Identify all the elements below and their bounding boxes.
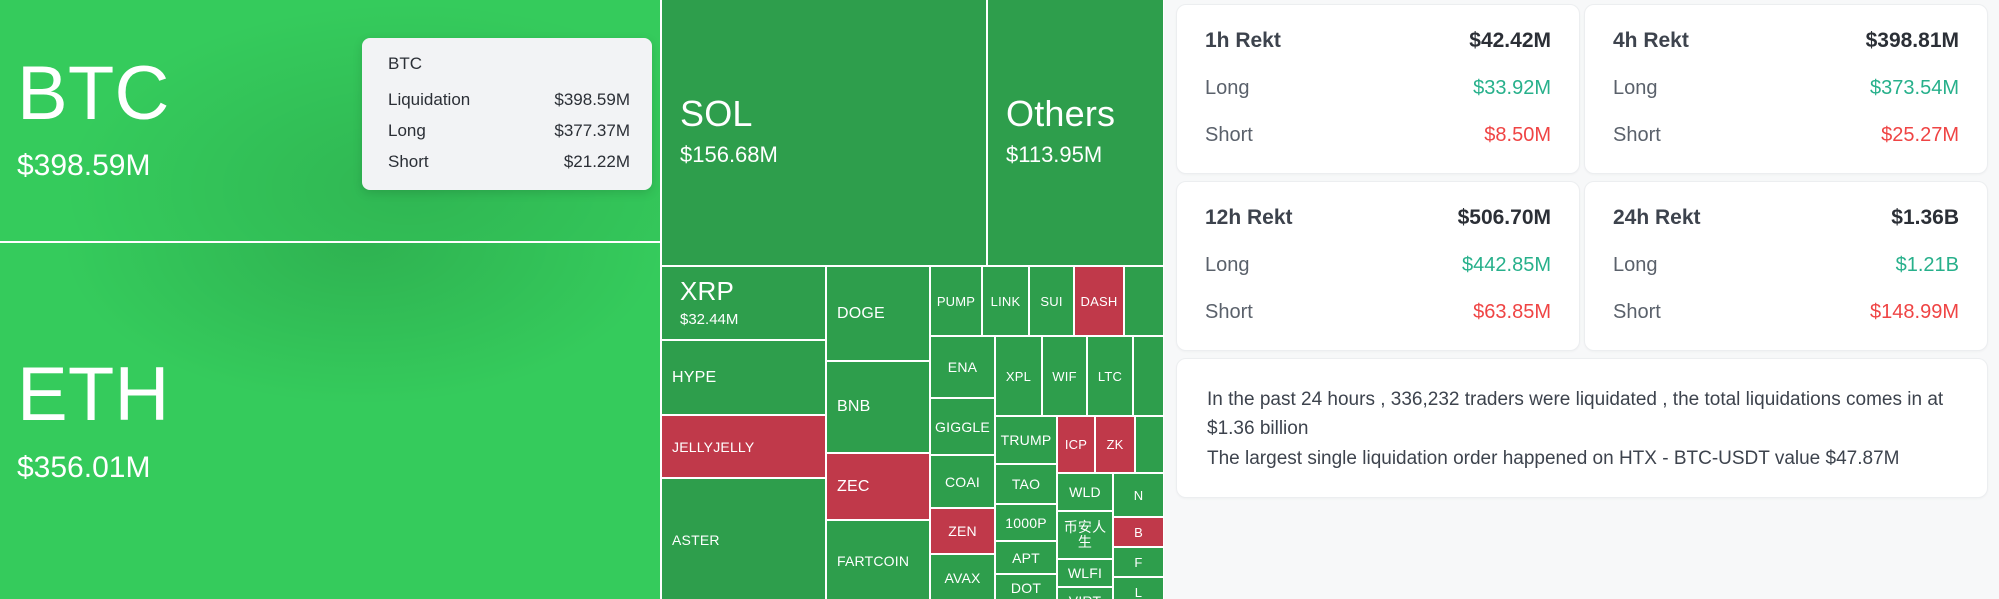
rekt-total: $1.36B: [1891, 206, 1959, 230]
tooltip-label: Short: [388, 153, 429, 170]
treemap-tile-jellyjelly[interactable]: JELLYJELLY: [661, 415, 826, 478]
rekt-long-label: Long: [1613, 254, 1658, 277]
rekt-card-12h[interactable]: 12h Rekt $506.70M Long $442.85M Short $6…: [1176, 181, 1580, 351]
stats-panel: 1h Rekt $42.42M Long $33.92M Short $8.50…: [1164, 0, 1999, 599]
treemap-tile-xpl[interactable]: XPL: [995, 336, 1042, 416]
rekt-long-label: Long: [1205, 77, 1250, 100]
tile-label: XRP: [680, 278, 825, 304]
treemap-tile-dash[interactable]: DASH: [1074, 266, 1124, 336]
tile-label: AVAX: [944, 570, 980, 586]
rekt-total-row: 12h Rekt $506.70M: [1205, 206, 1551, 230]
treemap-tile-n2[interactable]: [1124, 266, 1164, 336]
tile-label: VIRT: [1069, 593, 1101, 599]
treemap-tile-n[interactable]: N: [1113, 473, 1164, 517]
tile-label: WLFI: [1068, 565, 1102, 581]
rekt-long-value: $442.85M: [1462, 254, 1551, 277]
rekt-title: 24h Rekt: [1613, 206, 1701, 230]
tooltip-value: $398.59M: [554, 91, 630, 108]
tile-value: $32.44M: [680, 311, 825, 328]
treemap-tile-unnamed-1[interactable]: [1133, 336, 1164, 416]
treemap-tile-link[interactable]: LINK: [982, 266, 1029, 336]
rekt-short-label: Short: [1613, 124, 1661, 147]
tile-label: DOT: [1011, 580, 1041, 596]
rekt-long-label: Long: [1613, 77, 1658, 100]
tooltip-value: $377.37M: [554, 122, 630, 139]
rekt-title: 12h Rekt: [1205, 206, 1293, 230]
tooltip-value: $21.22M: [564, 153, 630, 170]
treemap-tile-pump[interactable]: PUMP: [930, 266, 982, 336]
summary-line-2: The largest single liquidation order hap…: [1207, 444, 1957, 473]
treemap-tile-coai[interactable]: COAI: [930, 455, 995, 508]
liquidation-dashboard: BTC $398.59M ETH $356.01M SOL $156.68M O…: [0, 0, 1999, 599]
rekt-short-label: Short: [1205, 124, 1253, 147]
rekt-long-row: Long $373.54M: [1613, 77, 1959, 100]
tile-label: HYPE: [672, 369, 825, 387]
treemap-tile-zen[interactable]: ZEN: [930, 508, 995, 554]
treemap-tile-ena[interactable]: ENA: [930, 336, 995, 398]
tile-label: GIGGLE: [935, 419, 990, 435]
tile-label: ENA: [948, 359, 977, 375]
tile-label: BNB: [837, 398, 929, 416]
tile-label: LINK: [991, 294, 1021, 309]
treemap-tile-virt[interactable]: VIRT: [1057, 587, 1113, 599]
tile-label: DASH: [1081, 294, 1118, 309]
treemap-tile-aster[interactable]: ASTER: [661, 478, 826, 599]
tile-value: $156.68M: [680, 142, 986, 168]
treemap-tile-bnb[interactable]: BNB: [826, 361, 930, 453]
rekt-long-label: Long: [1205, 254, 1250, 277]
treemap-tile-f[interactable]: F: [1113, 547, 1164, 577]
tooltip-label: Liquidation: [388, 91, 470, 108]
rekt-long-value: $373.54M: [1870, 77, 1959, 100]
tooltip-symbol: BTC: [388, 54, 630, 74]
rekt-total: $42.42M: [1469, 29, 1551, 53]
tile-label: ASTER: [672, 532, 825, 548]
rekt-title: 4h Rekt: [1613, 29, 1689, 53]
liquidation-treemap[interactable]: BTC $398.59M ETH $356.01M SOL $156.68M O…: [0, 0, 1164, 599]
tile-label: ZEN: [948, 523, 977, 539]
treemap-tile-b[interactable]: B: [1113, 517, 1164, 547]
rekt-long-value: $1.21B: [1896, 254, 1959, 277]
treemap-tile-sui[interactable]: SUI: [1029, 266, 1074, 336]
tile-label: L: [1135, 585, 1142, 599]
tile-label: SUI: [1040, 294, 1062, 309]
summary-line-1: In the past 24 hours , 336,232 traders w…: [1207, 385, 1957, 444]
rekt-short-label: Short: [1613, 301, 1661, 324]
rekt-short-value: $148.99M: [1870, 301, 1959, 324]
tooltip-row-short: Short $21.22M: [388, 153, 630, 170]
rekt-short-value: $63.85M: [1473, 301, 1551, 324]
tile-label: FARTCOIN: [837, 553, 929, 569]
tile-label: ZK: [1106, 437, 1123, 452]
tile-value: $113.95M: [1006, 142, 1163, 168]
treemap-tile-wlfi[interactable]: WLFI: [1057, 559, 1113, 587]
treemap-tile-xrp[interactable]: XRP $32.44M: [661, 266, 826, 340]
tile-label: DOGE: [837, 305, 929, 323]
rekt-short-row: Short $63.85M: [1205, 301, 1551, 324]
tile-label: TRUMP: [1001, 432, 1052, 448]
rekt-title: 1h Rekt: [1205, 29, 1281, 53]
btc-tooltip: BTC Liquidation $398.59M Long $377.37M S…: [362, 38, 652, 190]
tile-label: 币安人生: [1058, 520, 1112, 549]
treemap-tile-avax[interactable]: AVAX: [930, 554, 995, 599]
tile-label: ZEC: [837, 478, 929, 496]
tooltip-row-liquidation: Liquidation $398.59M: [388, 91, 630, 108]
tile-label: 1000P: [1005, 515, 1046, 531]
tooltip-label: Long: [388, 122, 426, 139]
tile-label: SOL: [680, 96, 986, 132]
treemap-tile-eth[interactable]: ETH $356.01M: [0, 242, 661, 599]
rekt-short-value: $8.50M: [1484, 124, 1551, 147]
tile-label: WLD: [1069, 484, 1101, 500]
treemap-tile-others[interactable]: Others $113.95M: [987, 0, 1164, 266]
treemap-tile-zk[interactable]: ZK: [1095, 416, 1135, 473]
rekt-total: $398.81M: [1866, 29, 1959, 53]
rekt-card-24h[interactable]: 24h Rekt $1.36B Long $1.21B Short $148.9…: [1584, 181, 1988, 351]
treemap-tile-tao[interactable]: TAO: [995, 464, 1057, 504]
tile-label: N: [1134, 488, 1144, 503]
tile-label: JELLYJELLY: [672, 439, 825, 455]
rekt-long-value: $33.92M: [1473, 77, 1551, 100]
rekt-short-value: $25.27M: [1881, 124, 1959, 147]
treemap-tile-apt[interactable]: APT: [995, 541, 1057, 574]
treemap-tile-wif[interactable]: WIF: [1042, 336, 1087, 416]
rekt-long-row: Long $1.21B: [1613, 254, 1959, 277]
tooltip-row-long: Long $377.37M: [388, 122, 630, 139]
treemap-tile-icp[interactable]: ICP: [1057, 416, 1095, 473]
tile-label: B: [1134, 525, 1143, 540]
treemap-tile-1000p[interactable]: 1000P: [995, 504, 1057, 541]
rekt-card-4h[interactable]: 4h Rekt $398.81M Long $373.54M Short $25…: [1584, 4, 1988, 174]
treemap-tile-sol[interactable]: SOL $156.68M: [661, 0, 987, 266]
tile-label: PUMP: [937, 294, 975, 309]
tile-label: WIF: [1052, 369, 1076, 384]
treemap-tile-giggle[interactable]: GIGGLE: [930, 398, 995, 455]
rekt-short-label: Short: [1205, 301, 1253, 324]
treemap-tile-l[interactable]: L: [1113, 577, 1164, 599]
tile-label: APT: [1012, 550, 1040, 566]
tile-label: LTC: [1098, 369, 1122, 384]
rekt-card-1h[interactable]: 1h Rekt $42.42M Long $33.92M Short $8.50…: [1176, 4, 1580, 174]
tile-label: ICP: [1065, 437, 1087, 452]
tile-label: COAI: [945, 474, 980, 490]
rekt-short-row: Short $25.27M: [1613, 124, 1959, 147]
tile-label: Others: [1006, 96, 1163, 132]
rekt-total-row: 24h Rekt $1.36B: [1613, 206, 1959, 230]
tile-value: $356.01M: [17, 451, 660, 485]
treemap-tile-wld[interactable]: WLD: [1057, 473, 1113, 511]
treemap-tile-doge[interactable]: DOGE: [826, 266, 930, 361]
rekt-short-row: Short $148.99M: [1613, 301, 1959, 324]
summary-card: In the past 24 hours , 336,232 traders w…: [1176, 358, 1988, 498]
treemap-tile-fartcoin[interactable]: FARTCOIN: [826, 520, 930, 599]
treemap-tile-dot[interactable]: DOT: [995, 574, 1057, 599]
rekt-total: $506.70M: [1458, 206, 1551, 230]
tile-label: XPL: [1006, 369, 1031, 384]
treemap-tile-zec[interactable]: ZEC: [826, 453, 930, 520]
tile-label: F: [1134, 555, 1142, 570]
rekt-total-row: 1h Rekt $42.42M: [1205, 29, 1551, 53]
rekt-total-row: 4h Rekt $398.81M: [1613, 29, 1959, 53]
tile-label: ETH: [17, 358, 660, 432]
treemap-tile-ltc[interactable]: LTC: [1087, 336, 1133, 416]
treemap-tile-trump[interactable]: TRUMP: [995, 416, 1057, 464]
treemap-tile-binance-life[interactable]: 币安人生: [1057, 511, 1113, 559]
tile-label: TAO: [1012, 476, 1040, 492]
rekt-short-row: Short $8.50M: [1205, 124, 1551, 147]
treemap-tile-hype[interactable]: HYPE: [661, 340, 826, 415]
rekt-long-row: Long $33.92M: [1205, 77, 1551, 100]
treemap-tile-unnamed-2[interactable]: [1135, 416, 1164, 473]
rekt-long-row: Long $442.85M: [1205, 254, 1551, 277]
